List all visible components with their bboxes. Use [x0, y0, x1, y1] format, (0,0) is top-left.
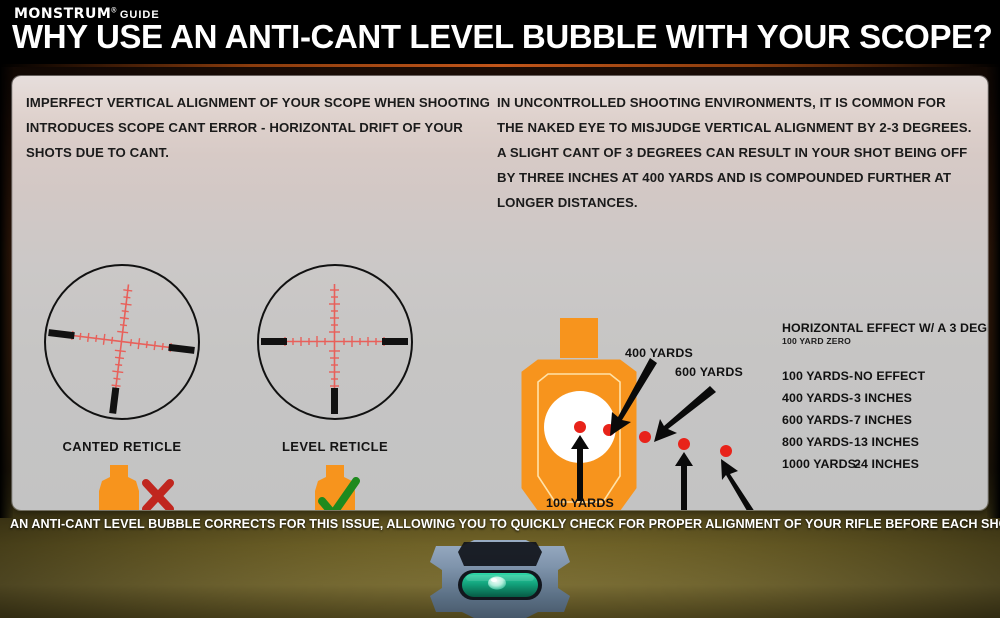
impact-right-illustration: [84, 461, 189, 510]
table-row: 100 YARDS- NO EFFECT: [782, 365, 988, 387]
mini-target-with-x-icon: [84, 461, 189, 510]
impact-dot-600: [639, 431, 651, 443]
right-edge-shadow: [987, 66, 1000, 518]
table-row: 400 YARDS- 3 INCHES: [782, 387, 988, 409]
footer-caption: AN ANTI-CANT LEVEL BUBBLE CORRECTS FOR T…: [0, 517, 1000, 531]
mini-target-with-check-icon: [300, 461, 405, 510]
range-label-400: 400 YARDS: [625, 346, 693, 360]
left-edge-shadow: [0, 66, 13, 518]
table-row: 800 YARDS- 13 INCHES: [782, 431, 988, 453]
arrow-1000: [721, 459, 755, 510]
table-row: 600 YARDS- 7 INCHES: [782, 409, 988, 431]
table-cell-effect: 3 INCHES: [854, 391, 912, 405]
arrow-800: [675, 452, 693, 510]
table-cell-distance: 800 YARDS-: [782, 435, 854, 449]
canted-reticle-caption: CANTED RETICLE: [17, 439, 227, 454]
x-mark-icon: [146, 483, 170, 509]
mount-recess: [458, 542, 542, 566]
table-subtitle: 100 YARD ZERO: [782, 336, 988, 346]
table-cell-effect: NO EFFECT: [854, 369, 925, 383]
table-cell-effect: 13 INCHES: [854, 435, 919, 449]
arrow-600: [654, 386, 716, 442]
table-title: HORIZONTAL EFFECT W/ A 3 DEGREE CANT: [782, 321, 988, 335]
anti-cant-level-bubble-device: [418, 540, 582, 618]
horizontal-effect-table: HORIZONTAL EFFECT W/ A 3 DEGREE CANT 100…: [782, 321, 988, 475]
impact-dot-800: [678, 438, 690, 450]
canted-reticle-scope: [44, 264, 200, 420]
range-label-600: 600 YARDS: [675, 365, 743, 379]
level-reticle-icon: [259, 266, 410, 417]
infographic-poster: MONSTRUM®GUIDE WHY USE AN ANTI-CANT LEVE…: [0, 0, 1000, 618]
content-panel: IMPERFECT VERTICAL ALIGNMENT OF YOUR SCO…: [12, 76, 988, 510]
level-reticle-caption: LEVEL RETICLE: [230, 439, 440, 454]
table-cell-distance: 100 YARDS-: [782, 369, 854, 383]
intro-paragraph-left: IMPERFECT VERTICAL ALIGNMENT OF YOUR SCO…: [26, 90, 494, 165]
level-reticle-scope: [257, 264, 413, 420]
intro-paragraph-right: IN UNCONTROLLED SHOOTING ENVIRONMENTS, I…: [497, 90, 975, 215]
canted-reticle-icon: [46, 266, 197, 417]
table-rows: 100 YARDS- NO EFFECT 400 YARDS- 3 INCHES…: [782, 365, 988, 475]
table-cell-distance: 400 YARDS-: [782, 391, 854, 405]
table-cell-effect: 24 INCHES: [854, 457, 919, 471]
center-impact-illustration: [300, 461, 405, 510]
table-cell-distance: 1000 YARDS-: [782, 457, 854, 471]
page-title: WHY USE AN ANTI-CANT LEVEL BUBBLE WITH Y…: [12, 17, 992, 57]
header-bar: MONSTRUM®GUIDE WHY USE AN ANTI-CANT LEVE…: [0, 0, 1000, 66]
table-row: 1000 YARDS- 24 INCHES: [782, 453, 988, 475]
registered-trademark-icon: ®: [111, 8, 117, 15]
header-accent-rule: [0, 64, 1000, 67]
table-cell-effect: 7 INCHES: [854, 413, 912, 427]
impact-dot-1000: [720, 445, 732, 457]
impact-dot-100: [574, 421, 586, 433]
table-cell-distance: 600 YARDS-: [782, 413, 854, 427]
range-label-100: 100 YARDS: [546, 496, 614, 510]
vial-glass-sheen: [466, 575, 534, 581]
